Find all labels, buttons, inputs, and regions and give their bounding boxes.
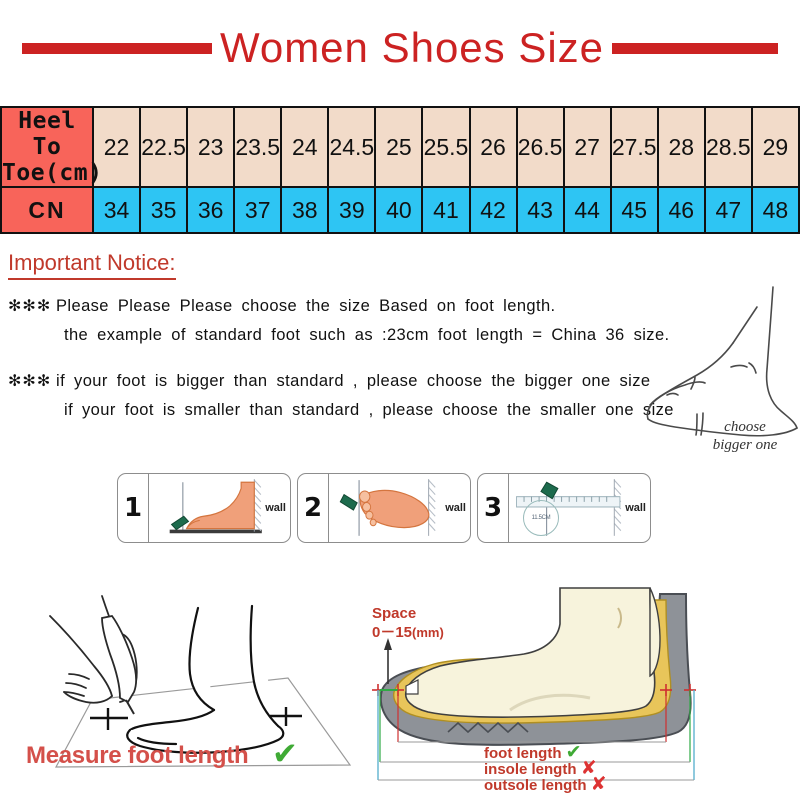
notice-text: Please Please Please choose the size Bas…: [56, 297, 556, 315]
cell-cm: 24: [281, 107, 328, 187]
notice-text: if your foot is smaller than standard , …: [8, 396, 708, 424]
space-range: 0－15: [372, 624, 412, 641]
asterisk-icon: ✻✻✻: [8, 298, 51, 315]
check-mark-icon: ✔: [272, 736, 298, 772]
wall-label: wall: [625, 502, 646, 514]
cell-cn: 48: [752, 187, 799, 233]
cell-cn: 39: [328, 187, 375, 233]
step-number: 2: [298, 474, 329, 542]
cell-cn: 34: [93, 187, 140, 233]
title-rule-left: [22, 43, 212, 54]
notice-block: ✻✻✻ Please Please Please choose the size…: [8, 292, 708, 349]
asterisk-icon: ✻✻✻: [8, 373, 51, 390]
space-unit: (mm): [412, 625, 444, 640]
cell-cn: 35: [140, 187, 187, 233]
step-number: 3: [478, 474, 509, 542]
cell-cn: 44: [564, 187, 611, 233]
choose-bigger-one-caption: choose bigger one: [690, 418, 800, 454]
notice-body: ✻✻✻ Please Please Please choose the size…: [8, 292, 708, 442]
cell-cm: 29: [752, 107, 799, 187]
cell-cn: 45: [611, 187, 658, 233]
cell-cm: 25.5: [422, 107, 469, 187]
step-2-illustration: wall: [329, 474, 470, 542]
step-number: 1: [118, 474, 149, 542]
notice-block: ✻✻✻ if your foot is bigger than standard…: [8, 367, 708, 424]
size-chart-table: Heel To Toe(cm) 22 22.5 23 23.5 24 24.5 …: [0, 106, 800, 234]
cell-cm: 27: [564, 107, 611, 187]
table-row-cn: CN 34 35 36 37 38 39 40 41 42 43 44 45 4…: [1, 187, 799, 233]
cell-cm: 27.5: [611, 107, 658, 187]
cell-cn: 42: [470, 187, 517, 233]
notice-text: the example of standard foot such as :23…: [8, 321, 708, 349]
step-1-box: 1 wall: [117, 473, 291, 543]
title-rule-right: [612, 43, 778, 54]
cell-cm: 22.5: [140, 107, 187, 187]
cell-cn: 36: [187, 187, 234, 233]
cell-cn: 43: [517, 187, 564, 233]
cell-cn: 37: [234, 187, 281, 233]
cross-mark-icon: ✘: [591, 774, 607, 795]
cell-cm: 24.5: [328, 107, 375, 187]
step-3-illustration: 11.5CM wall: [509, 474, 650, 542]
cell-cm: 28.5: [705, 107, 752, 187]
page-title: Women Shoes Size: [212, 27, 612, 69]
ruler-measurement-badge: 11.5CM: [523, 500, 559, 536]
notice-text: if your foot is bigger than standard , p…: [56, 372, 650, 390]
cell-cm: 26: [470, 107, 517, 187]
cell-cn: 40: [375, 187, 422, 233]
wall-label: wall: [445, 502, 466, 514]
page-title-bar: Women Shoes Size: [0, 18, 800, 78]
table-row-heel-to-toe: Heel To Toe(cm) 22 22.5 23 23.5 24 24.5 …: [1, 107, 799, 187]
cell-cm: 25: [375, 107, 422, 187]
cell-cm: 26.5: [517, 107, 564, 187]
cell-cn: 38: [281, 187, 328, 233]
measure-foot-length-label: Measure foot length: [26, 742, 248, 770]
space-annotation: Space 0－15(mm): [372, 604, 444, 642]
outsole-length-annotation: outsole length ✘: [484, 773, 607, 796]
important-notice-heading: Important Notice:: [8, 250, 176, 280]
cell-cn: 46: [658, 187, 705, 233]
row-header-heel-to-toe: Heel To Toe(cm): [1, 107, 93, 187]
cell-cn: 41: [422, 187, 469, 233]
step-2-box: 2 wall: [297, 473, 471, 543]
row-header-cn: CN: [1, 187, 93, 233]
step-1-illustration: wall: [149, 474, 290, 542]
cell-cm: 23: [187, 107, 234, 187]
cell-cm: 23.5: [234, 107, 281, 187]
wall-label: wall: [265, 502, 286, 514]
step-3-box: 3: [477, 473, 651, 543]
cell-cm: 28: [658, 107, 705, 187]
cell-cn: 47: [705, 187, 752, 233]
measure-steps: 1 wall 2: [117, 473, 651, 543]
